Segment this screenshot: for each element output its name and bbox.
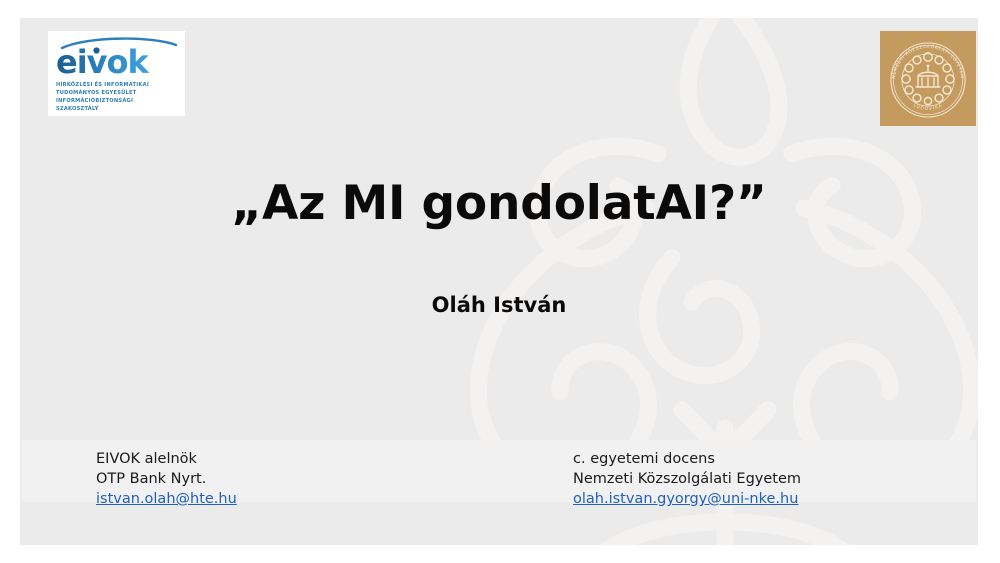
eivok-subtitle-line-1: HÍRKÖZLÉSI ÉS INFORMATIKAI [56,81,180,89]
eivok-subtitle-line-3: INFORMÁCIÓBIZTONSÁGI [56,97,180,105]
eivok-subtitle: HÍRKÖZLÉSI ÉS INFORMATIKAI TUDOMÁNYOS EG… [56,81,180,113]
slide-canvas: eivok HÍRKÖZLÉSI ÉS INFORMATIKAI TUDOMÁN… [20,18,978,545]
contact-right-organization: Nemzeti Közszolgálati Egyetem [573,469,801,489]
eivok-logo: eivok HÍRKÖZLÉSI ÉS INFORMATIKAI TUDOMÁN… [48,31,185,116]
contact-left-role: EIVOK alelnök [96,449,237,469]
contact-right-email-link[interactable]: olah.istvan.gyorgy@uni-nke.hu [573,489,801,509]
eivok-wordmark-icon: eivok [54,45,182,79]
svg-text:eivok: eivok [56,45,150,79]
contact-block-right: c. egyetemi docens Nemzeti Közszolgálati… [573,449,801,509]
nke-seal-logo: NEMZETI KÖZSZOLGÁLATI EGYETEM LUDOVIKA [880,31,976,126]
eivok-subtitle-line-2: TUDOMÁNYOS EGYESÜLET [56,89,180,97]
slide-author: Oláh István [20,293,978,317]
eivok-subtitle-line-4: SZAKOSZTÁLY [56,105,180,113]
slide-title: „Az MI gondolatAI?” [20,176,978,231]
contact-left-email-link[interactable]: istvan.olah@hte.hu [96,489,237,509]
contact-band: EIVOK alelnök OTP Bank Nyrt. istvan.olah… [22,440,976,502]
contact-right-role: c. egyetemi docens [573,449,801,469]
contact-left-organization: OTP Bank Nyrt. [96,469,237,489]
contact-block-left: EIVOK alelnök OTP Bank Nyrt. istvan.olah… [96,449,237,509]
